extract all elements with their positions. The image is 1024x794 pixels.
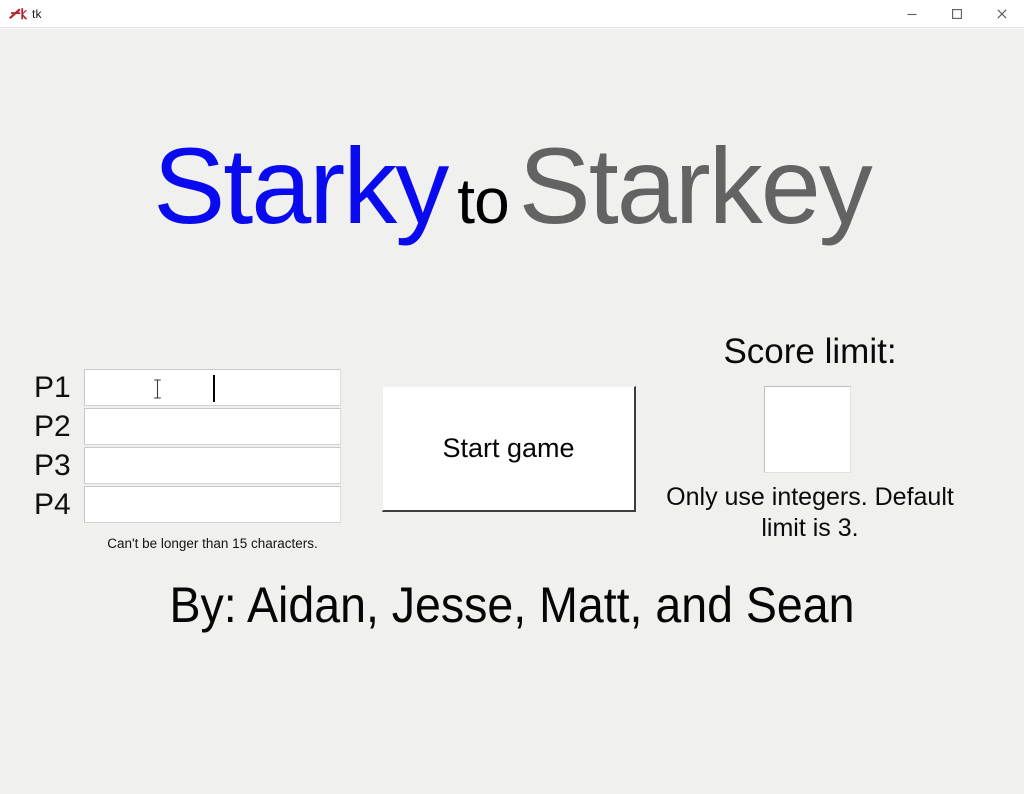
- player-name-input-p3[interactable]: [84, 447, 341, 484]
- player-row: P4: [34, 486, 344, 524]
- player-name-input-p1[interactable]: [84, 369, 341, 406]
- text-caret: [213, 375, 215, 402]
- page-title: StarkytoStarkey: [0, 132, 1024, 240]
- maximize-button[interactable]: [934, 0, 979, 28]
- player-name-section: P1 P2 P3 P4: [34, 369, 344, 525]
- score-limit-hint: Only use integers. Default limit is 3.: [640, 482, 980, 544]
- tk-logo-icon: [8, 6, 28, 22]
- score-limit-hint-line1: Only use integers. Default: [640, 482, 980, 513]
- player-row: P2: [34, 408, 344, 446]
- player-row: P3: [34, 447, 344, 485]
- player-name-hint: Can't be longer than 15 characters.: [84, 536, 341, 552]
- minimize-button[interactable]: [889, 0, 934, 28]
- title-bar: tk: [0, 0, 1024, 28]
- start-game-button[interactable]: Start game: [382, 386, 636, 512]
- application-window: tk StarkytoStarkey P1: [0, 0, 1024, 794]
- player-label-p2: P2: [34, 411, 80, 443]
- player-label-p4: P4: [34, 489, 80, 521]
- player-label-p1: P1: [34, 372, 80, 404]
- window-title: tk: [32, 6, 42, 22]
- page-title-word-starky: Starky: [153, 125, 447, 246]
- player-name-input-p2[interactable]: [84, 408, 341, 445]
- ibeam-cursor-icon: [153, 379, 162, 399]
- player-name-input-p4[interactable]: [84, 486, 341, 523]
- page-title-word-starkey: Starkey: [519, 125, 871, 246]
- credits-text: By: Aidan, Jesse, Matt, and Sean: [36, 576, 988, 634]
- score-limit-label: Score limit:: [650, 332, 970, 372]
- player-label-p3: P3: [34, 450, 80, 482]
- close-button[interactable]: [979, 0, 1024, 28]
- score-limit-hint-line2: limit is 3.: [640, 513, 980, 544]
- page-title-word-to: to: [447, 165, 518, 237]
- client-area: StarkytoStarkey P1 P2: [0, 28, 1024, 794]
- player-row: P1: [34, 369, 344, 407]
- score-limit-input[interactable]: [764, 386, 851, 473]
